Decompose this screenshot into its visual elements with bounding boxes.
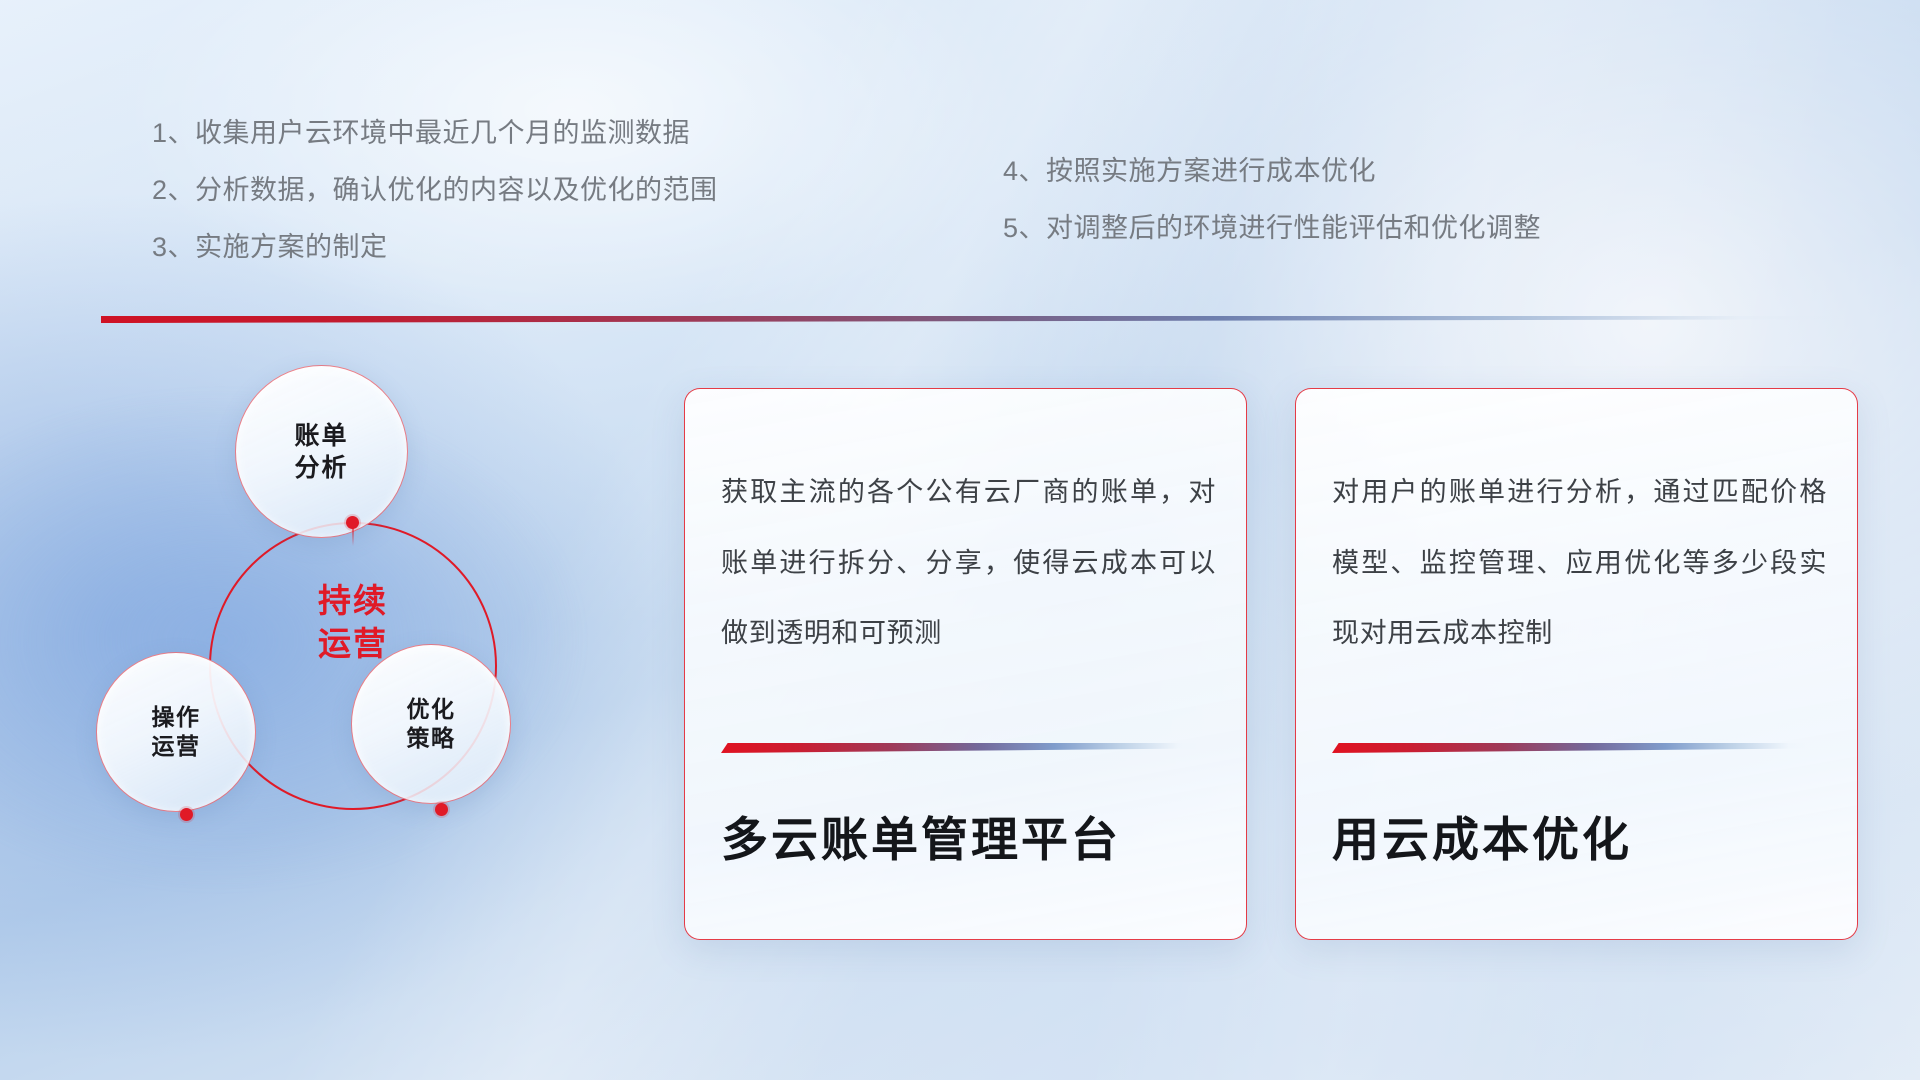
bubble-label-line1: 操作 [152,703,201,732]
step-item: 5、对调整后的环境进行性能评估和优化调整 [1003,215,1541,242]
steps-left-column: 1、收集用户云环境中最近几个月的监测数据 2、分析数据，确认优化的内容以及优化的… [152,120,718,261]
bubble-label-line1: 优化 [407,695,456,724]
feature-card-cloud-cost-optimization[interactable]: 对用户的账单进行分析，通过匹配价格模型、监控管理、应用优化等多少段实现对用云成本… [1295,388,1858,940]
card-gradient-divider [721,743,1197,753]
card-body-text: 获取主流的各个公有云厂商的账单，对账单进行拆分、分享，使得云成本可以做到透明和可… [721,457,1216,669]
feature-card-multicloud-billing[interactable]: 获取主流的各个公有云厂商的账单，对账单进行拆分、分享，使得云成本可以做到透明和可… [684,388,1247,940]
bubble-label-line2: 分析 [294,452,348,484]
diagram-node-optimization-strategy[interactable]: 优化 策略 [351,644,511,804]
bubble-label-line2: 策略 [407,724,456,753]
diagram-dot-bottom-left [180,808,193,821]
bubble-label-line1: 账单 [294,420,348,452]
diagram-node-bill-analysis[interactable]: 账单 分析 [235,365,408,538]
diagram-connector-tail [352,528,354,546]
center-label-line1: 持续 [209,580,497,623]
cycle-diagram: 持续 运营 账单 分析 操作 运营 优化 策略 [96,352,636,942]
step-item: 2、分析数据，确认优化的内容以及优化的范围 [152,177,718,204]
bubble-label-line2: 运营 [152,732,201,761]
card-gradient-divider [1332,743,1808,753]
diagram-dot-top [346,516,359,529]
card-body-text: 对用户的账单进行分析，通过匹配价格模型、监控管理、应用优化等多少段实现对用云成本… [1332,457,1827,669]
card-title: 用云成本优化 [1332,801,1632,870]
steps-right-column: 4、按照实施方案进行成本优化 5、对调整后的环境进行性能评估和优化调整 [1003,158,1541,242]
diagram-dot-bottom-right [435,803,448,816]
slide-canvas: 1、收集用户云环境中最近几个月的监测数据 2、分析数据，确认优化的内容以及优化的… [0,0,1920,1080]
step-item: 3、实施方案的制定 [152,234,718,261]
diagram-node-operations[interactable]: 操作 运营 [96,652,256,812]
step-item: 4、按照实施方案进行成本优化 [1003,158,1541,185]
top-gradient-divider [101,316,1845,323]
step-item: 1、收集用户云环境中最近几个月的监测数据 [152,120,718,147]
card-title: 多云账单管理平台 [721,801,1121,870]
